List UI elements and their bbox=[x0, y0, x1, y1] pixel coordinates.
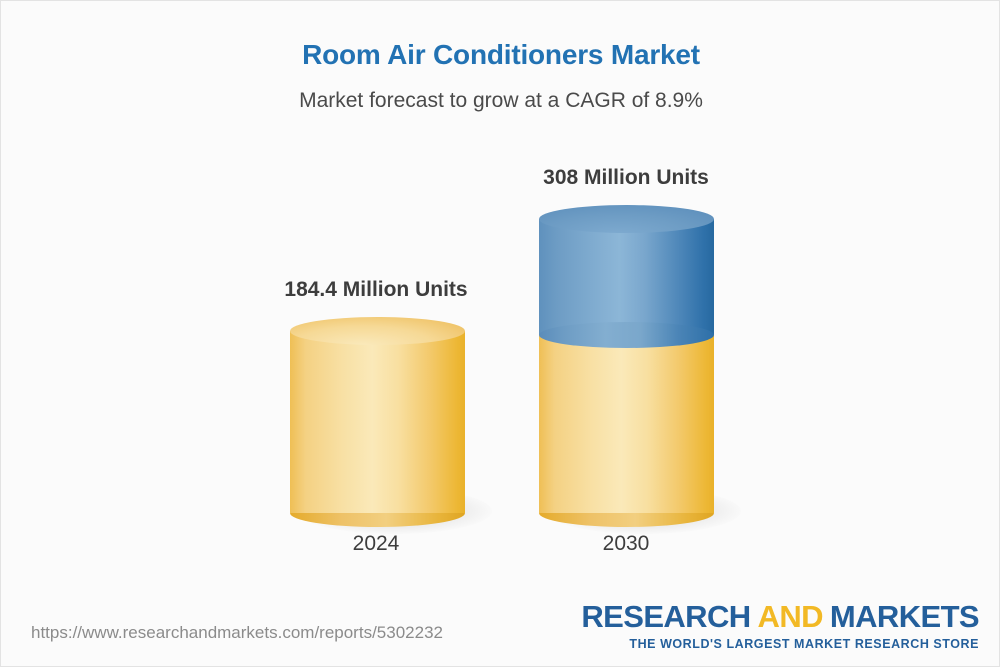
bar-2024-gold-segment bbox=[290, 331, 465, 513]
bar-value-label-2024: 184.4 Million Units bbox=[216, 278, 536, 302]
bar-2030-segment-seam bbox=[539, 322, 714, 348]
research-and-markets-logo[interactable]: RESEARCHANDMARKETS THE WORLD'S LARGEST M… bbox=[581, 601, 979, 651]
bar-2030[interactable] bbox=[539, 205, 714, 513]
logo-wordmark: RESEARCHANDMARKETS bbox=[581, 601, 979, 632]
plot-area: 184.4 Million Units 2024 308 Million Uni… bbox=[1, 1, 1000, 601]
logo-tagline: THE WORLD'S LARGEST MARKET RESEARCH STOR… bbox=[581, 637, 979, 651]
bar-2024-top-ellipse bbox=[290, 317, 465, 345]
category-label-2024: 2024 bbox=[276, 532, 476, 556]
bar-2030-blue-segment bbox=[539, 219, 714, 335]
logo-word-and: AND bbox=[758, 599, 823, 634]
bar-value-label-2030: 308 Million Units bbox=[466, 166, 786, 190]
source-url[interactable]: https://www.researchandmarkets.com/repor… bbox=[31, 623, 443, 643]
logo-word-markets: MARKETS bbox=[830, 599, 979, 634]
bar-2024[interactable] bbox=[290, 317, 465, 513]
logo-word-research: RESEARCH bbox=[581, 599, 750, 634]
bar-2030-top-ellipse bbox=[539, 205, 714, 233]
chart-canvas: Room Air Conditioners Market Market fore… bbox=[0, 0, 1000, 667]
bar-2030-gold-segment bbox=[539, 335, 714, 513]
category-label-2030: 2030 bbox=[526, 532, 726, 556]
